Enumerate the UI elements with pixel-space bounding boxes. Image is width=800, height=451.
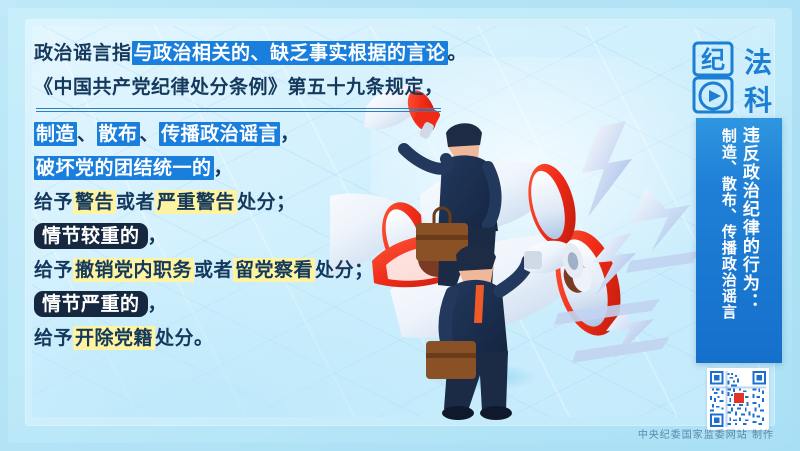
poster-canvas: 政治谣言指与政治相关的、缺乏事实根据的言论。《中国共产党纪律处分条例》第五十九条… <box>0 0 800 451</box>
headline-segment: 撤销党内职务 <box>73 258 194 282</box>
brand-logo[interactable]: 纪 法 科 <box>688 40 788 118</box>
headline-segment: 制造 <box>34 122 77 146</box>
headline-segment: 或者 <box>116 191 155 213</box>
headline-segment: 给予 <box>34 191 73 213</box>
headline-line-l9: 给予开除党籍处分。 <box>34 325 484 352</box>
headline-segment: 情节严重的 <box>34 291 148 317</box>
headline-segment: 留党察看 <box>233 258 315 282</box>
headline-line-l4: 破坏党的团结统一的， <box>34 155 484 182</box>
headline-segment: 。 <box>448 42 468 64</box>
sidebar-vertical-panel: 违反政治纪律的行为： 制造、散布、传播政治谣言 <box>696 118 782 363</box>
headline-line-l2: 《中国共产党纪律处分条例》第五十九条规定， <box>34 74 484 101</box>
qr-code[interactable] <box>707 368 769 430</box>
section-divider <box>36 108 441 112</box>
headline-segment: 传播政治谣言 <box>159 122 280 146</box>
headline-segment: 、 <box>140 123 160 145</box>
headline-line-l1: 政治谣言指与政治相关的、缺乏事实根据的言论。 <box>34 40 484 67</box>
logo-char-ji: 纪 <box>701 46 725 74</box>
headline-segment: 政治谣言指 <box>34 42 132 64</box>
headline-segment: 《中国共产党纪律处分条例》第五十九条规定， <box>34 76 444 98</box>
headline-segment: 给予 <box>34 327 73 349</box>
logo-char-ke: 科 <box>744 84 772 117</box>
headline-segment: 开除党籍 <box>73 326 155 350</box>
play-triangle-icon <box>709 90 721 102</box>
headline-line-l8: 情节严重的， <box>34 291 484 318</box>
sidebar-detail-column: 制造、散布、传播政治谣言 <box>720 126 737 355</box>
sidebar-title-column: 违反政治纪律的行为： <box>739 126 758 355</box>
headline-line-l7: 给予撤销党内职务或者留党察看处分； <box>34 257 484 284</box>
headline-text-block: 政治谣言指与政治相关的、缺乏事实根据的言论。《中国共产党纪律处分条例》第五十九条… <box>34 40 484 359</box>
headline-segment: 散布 <box>97 122 140 146</box>
headline-line-l5: 给予警告或者严重警告处分； <box>34 189 484 216</box>
headline-segment: 给予 <box>34 259 73 281</box>
headline-line-l3: 制造、散布、传播政治谣言， <box>34 121 484 148</box>
headline-segment: 警告 <box>73 190 116 214</box>
headline-segment: 、 <box>77 123 97 145</box>
headline-segment: ， <box>280 123 300 145</box>
headline-segment: 处分。 <box>155 327 214 349</box>
headline-segment: 严重警告 <box>155 190 237 214</box>
headline-segment: 或者 <box>194 259 233 281</box>
headline-segment: ， <box>148 225 168 247</box>
headline-segment: ， <box>148 293 168 315</box>
logo-char-fa: 法 <box>744 46 772 79</box>
credit-text: 中央纪委国家监委网站 制作 <box>638 426 774 441</box>
headline-lines-container: 政治谣言指与政治相关的、缺乏事实根据的言论。《中国共产党纪律处分条例》第五十九条… <box>34 40 484 352</box>
headline-segment: ， <box>214 157 234 179</box>
headline-segment: 情节较重的 <box>34 223 148 249</box>
headline-segment: 处分； <box>237 191 296 213</box>
headline-segment: 与政治相关的、缺乏事实根据的言论 <box>132 41 448 65</box>
headline-segment: 处分； <box>315 259 374 281</box>
headline-segment: 破坏党的团结统一的 <box>34 156 214 180</box>
seal-icon <box>734 393 744 403</box>
headline-line-l6: 情节较重的， <box>34 223 484 250</box>
